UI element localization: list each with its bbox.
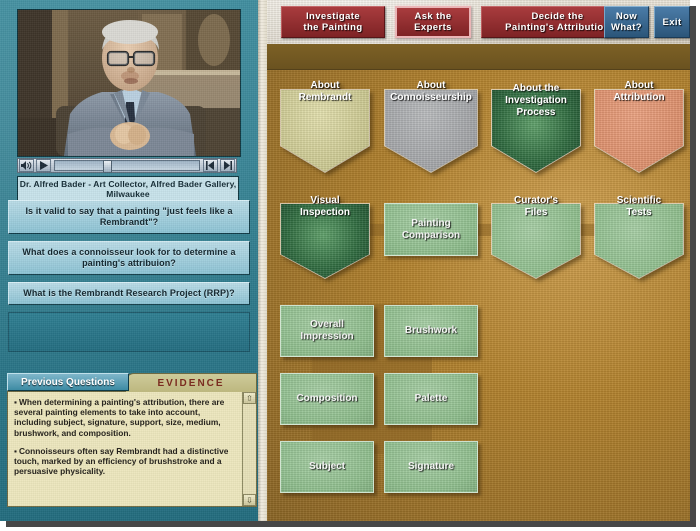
shape-label-line1: Scientific [617, 195, 661, 206]
video-caption-line1: Dr. Alfred Bader - Art Collector, Alfred… [20, 179, 236, 189]
shape-label-line1: Curator's [514, 195, 558, 206]
stage-button-palette[interactable]: Palette [384, 373, 478, 425]
scrollbar-track[interactable] [243, 404, 256, 494]
shape-label-line2: Attribution [613, 92, 664, 103]
nav-label-line2: Painting's Attribution [505, 22, 610, 33]
nav-label-line1: Exit [662, 17, 681, 28]
shape-label-line1: Composition [296, 393, 357, 404]
stage-button-brushwork[interactable]: Brushwork [384, 305, 478, 357]
stage-button-about-connoisseurship[interactable]: AboutConnoisseurship [384, 89, 478, 173]
video-controls[interactable] [17, 158, 237, 173]
stage-title-bar [267, 44, 690, 70]
application-window: Dr. Alfred Bader - Art Collector, Alfred… [0, 0, 700, 531]
shape-label-line1: Palette [415, 393, 448, 404]
tab-evidence[interactable]: EVIDENCE [125, 373, 257, 392]
nav-label-line1: Ask the [414, 11, 451, 22]
left-panel: Dr. Alfred Bader - Art Collector, Alfred… [0, 0, 260, 521]
shape-label-line2: Impression [300, 331, 353, 342]
video-scrubber[interactable] [54, 160, 200, 171]
shape-label-line1: Visual [310, 195, 339, 206]
stage-button-signature[interactable]: Signature [384, 441, 478, 493]
shape-label-line2: Rembrandt [299, 92, 352, 103]
evidence-item-text: Connoisseurs often say Rembrandt had a d… [14, 446, 228, 476]
video-block: Dr. Alfred Bader - Art Collector, Alfred… [17, 9, 239, 202]
shape-label-line2: Inspection [300, 207, 350, 218]
stage-button-overall-impression[interactable]: OverallImpression [280, 305, 374, 357]
nav-button-investigate-the-painting[interactable]: Investigatethe Painting [281, 6, 385, 38]
evidence-panel: ▪When determining a painting's attributi… [7, 391, 257, 507]
shape-label-line2: Files [525, 207, 548, 218]
shape-label-line1: About [417, 80, 446, 91]
shape-label-line1: About [625, 80, 654, 91]
bullet-icon: ▪ [14, 397, 17, 407]
video-still-image [18, 10, 240, 156]
stage-button-subject[interactable]: Subject [280, 441, 374, 493]
stage-button-about-rembrandt[interactable]: AboutRembrandt [280, 89, 370, 173]
panel-divider [258, 0, 267, 521]
question-button-3[interactable]: What is the Rembrandt Research Project (… [8, 282, 250, 305]
video-scrubber-thumb[interactable] [103, 160, 112, 173]
shape-label-line1: Brushwork [405, 325, 457, 336]
question-button-1[interactable]: Is it valid to say that a painting "just… [8, 200, 250, 234]
main-stage: ASK THE EXPERTS... AboutRembrandt AboutC… [267, 44, 690, 521]
evidence-scrollbar[interactable]: ⇧ ⇩ [242, 392, 256, 506]
panel-tabs: EVIDENCE Previous Questions [7, 373, 257, 392]
window-frame: Dr. Alfred Bader - Art Collector, Alfred… [0, 0, 690, 521]
question-button-2[interactable]: What does a connoisseur look for to dete… [8, 241, 250, 275]
scroll-up-icon[interactable]: ⇧ [243, 392, 256, 404]
stage-button-about-the-investigation-process[interactable]: About theInvestigationProcess [491, 89, 581, 173]
stage-button-composition[interactable]: Composition [280, 373, 374, 425]
speaker-icon[interactable] [19, 159, 34, 172]
question-list-empty-slot [8, 312, 250, 352]
nav-label-line1: Decide the [531, 11, 583, 22]
question-list: Is it valid to say that a painting "just… [8, 200, 250, 352]
shape-label-line2: Comparison [402, 230, 460, 241]
step-forward-icon[interactable] [220, 159, 235, 172]
shape-label-line1: Subject [309, 461, 345, 472]
top-navigation-bar: Investigatethe Painting Ask theExperts D… [267, 0, 690, 44]
stage-button-painting-comparison[interactable]: PaintingComparison [384, 203, 478, 256]
shape-label-line3: Process [517, 107, 556, 118]
shape-label-line2: Connoisseurship [390, 92, 472, 103]
evidence-item: ▪Connoisseurs often say Rembrandt had a … [14, 446, 236, 477]
shape-label-line2: Investigation [505, 95, 567, 106]
nav-label-line1: Investigate [306, 11, 360, 22]
tab-previous-questions[interactable]: Previous Questions [7, 373, 129, 391]
stage-button-scientific-tests[interactable]: ScientificTests [594, 203, 684, 279]
video-caption-line2: Milwaukee [106, 189, 149, 199]
stage-button-about-attribution[interactable]: AboutAttribution [594, 89, 684, 173]
evidence-text-body: ▪When determining a painting's attributi… [8, 392, 242, 506]
nav-button-now-what[interactable]: NowWhat? [604, 6, 649, 38]
nav-label-line1: Now [616, 11, 637, 22]
shape-label-line1: About [311, 80, 340, 91]
shape-label-line1: About the [513, 83, 560, 94]
video-player[interactable] [17, 9, 241, 157]
shape-label-line1: Signature [408, 461, 454, 472]
nav-label-line2: What? [611, 22, 642, 33]
nav-label-line2: the Painting [303, 22, 362, 33]
nav-label-line2: Experts [414, 22, 452, 33]
play-icon[interactable] [36, 159, 51, 172]
nav-button-exit[interactable]: Exit [654, 6, 690, 38]
step-back-icon[interactable] [203, 159, 218, 172]
evidence-item-text: When determining a painting's attributio… [14, 397, 224, 438]
stage-button-curators-files[interactable]: Curator'sFiles [491, 203, 581, 279]
bullet-icon: ▪ [14, 446, 17, 456]
shape-label-line2: Tests [626, 207, 651, 218]
scroll-down-icon[interactable]: ⇩ [243, 494, 256, 506]
stage-button-visual-inspection[interactable]: VisualInspection [280, 203, 370, 279]
nav-button-ask-the-experts[interactable]: Ask theExperts [395, 6, 471, 38]
evidence-item: ▪When determining a painting's attributi… [14, 397, 236, 438]
shape-label-line1: Overall [310, 319, 344, 330]
video-caption: Dr. Alfred Bader - Art Collector, Alfred… [17, 176, 239, 202]
shape-label-line1: Painting [411, 218, 450, 229]
